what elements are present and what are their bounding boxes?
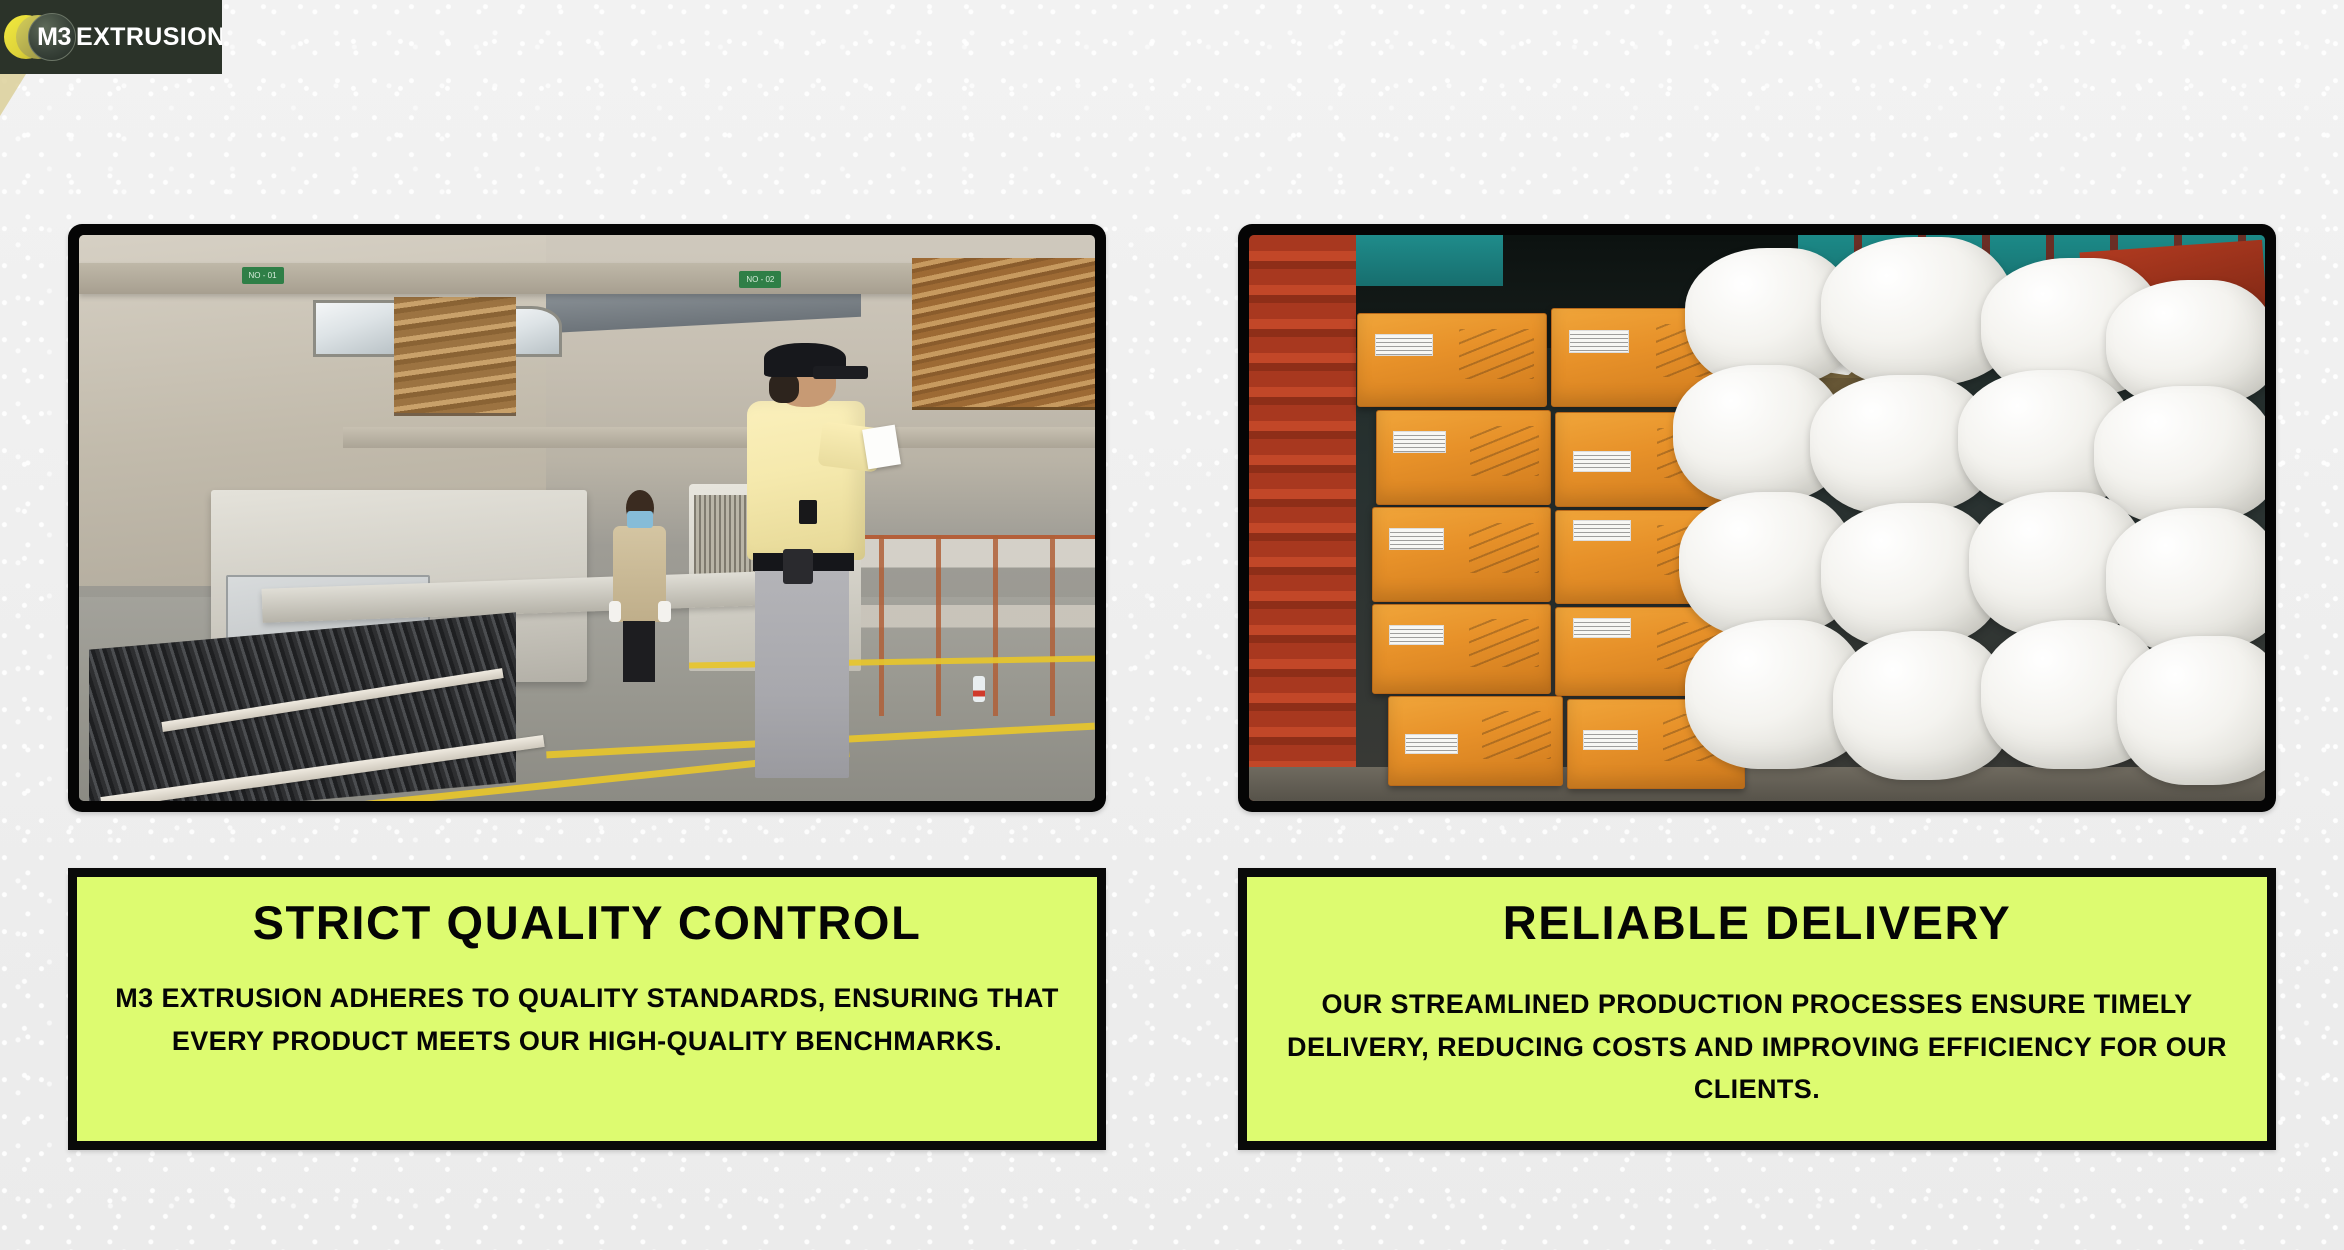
photo-ceiling-beam-secondary <box>343 427 1095 447</box>
m3-circles-logo-icon: M3 <box>2 6 80 68</box>
supervisor-hair <box>769 372 799 403</box>
logo-wordmark: EXTRUSION <box>76 23 222 52</box>
worker-glove <box>658 601 670 622</box>
shipping-label <box>1393 431 1446 452</box>
card-strict-quality-control: STRICT QUALITY CONTROL M3 EXTRUSION ADHE… <box>68 868 1106 1150</box>
photo-timber-bundle <box>912 258 1095 411</box>
photo-stacked-timber <box>394 297 516 416</box>
cap-brim <box>813 366 868 379</box>
logo-corner-accent <box>0 74 26 116</box>
shipping-container-photo <box>1249 235 2265 801</box>
carton <box>1372 507 1550 602</box>
shipping-label <box>1573 520 1631 541</box>
card-title: STRICT QUALITY CONTROL <box>253 899 922 947</box>
photo-worker-masked <box>612 490 667 682</box>
bulk-bag <box>2094 386 2265 524</box>
logo-initials: M3 <box>30 13 78 61</box>
bulk-bag-pile <box>1696 269 2265 801</box>
shipping-label <box>1405 734 1458 754</box>
card-title: RELIABLE DELIVERY <box>1503 899 2012 947</box>
bulk-bag <box>2117 636 2265 785</box>
face-mask-icon <box>627 511 653 528</box>
shipping-label <box>1375 334 1433 355</box>
inspection-papers <box>862 425 901 469</box>
belt-pouch <box>783 549 813 584</box>
worker-glove <box>609 601 621 622</box>
card-body: M3 EXTRUSION ADHERES TO QUALITY STANDARD… <box>107 977 1067 1062</box>
card-body: OUR STREAMLINED PRODUCTION PROCESSES ENS… <box>1277 983 2237 1111</box>
handwritten-marking <box>1459 329 1534 379</box>
shipping-label <box>1573 618 1631 638</box>
photo-container-red-wall <box>1249 235 1356 801</box>
shipping-label <box>1569 330 1629 352</box>
photo-bay-sign: NO - 02 <box>739 271 781 288</box>
photo-frame-quality: NO - 01 NO - 02 <box>68 224 1106 812</box>
handwritten-marking <box>1469 619 1540 666</box>
shipping-label <box>1389 528 1444 549</box>
carton <box>1388 696 1562 786</box>
photo-frame-delivery <box>1238 224 2276 812</box>
carton <box>1376 410 1550 505</box>
supervisor-trousers <box>755 566 848 778</box>
photo-bay-sign: NO - 01 <box>242 267 284 284</box>
handwritten-marking <box>1469 523 1540 573</box>
worker-trousers <box>623 621 655 683</box>
shipping-label <box>1389 625 1444 645</box>
photo-supervisor <box>744 337 881 778</box>
card-reliable-delivery: RELIABLE DELIVERY OUR STREAMLINED PRODUC… <box>1238 868 2276 1150</box>
photo-water-bottle <box>973 676 985 702</box>
brand-logo[interactable]: M3 EXTRUSION <box>0 0 222 74</box>
handwritten-marking <box>1470 426 1539 476</box>
shipping-label <box>1583 730 1638 750</box>
shipping-label <box>1573 451 1631 472</box>
handwritten-marking <box>1482 711 1551 758</box>
photo-window <box>313 300 400 357</box>
factory-floor-photo: NO - 01 NO - 02 <box>79 235 1095 801</box>
carton <box>1357 313 1547 408</box>
mobile-phone-icon <box>799 500 817 524</box>
carton <box>1372 604 1550 694</box>
